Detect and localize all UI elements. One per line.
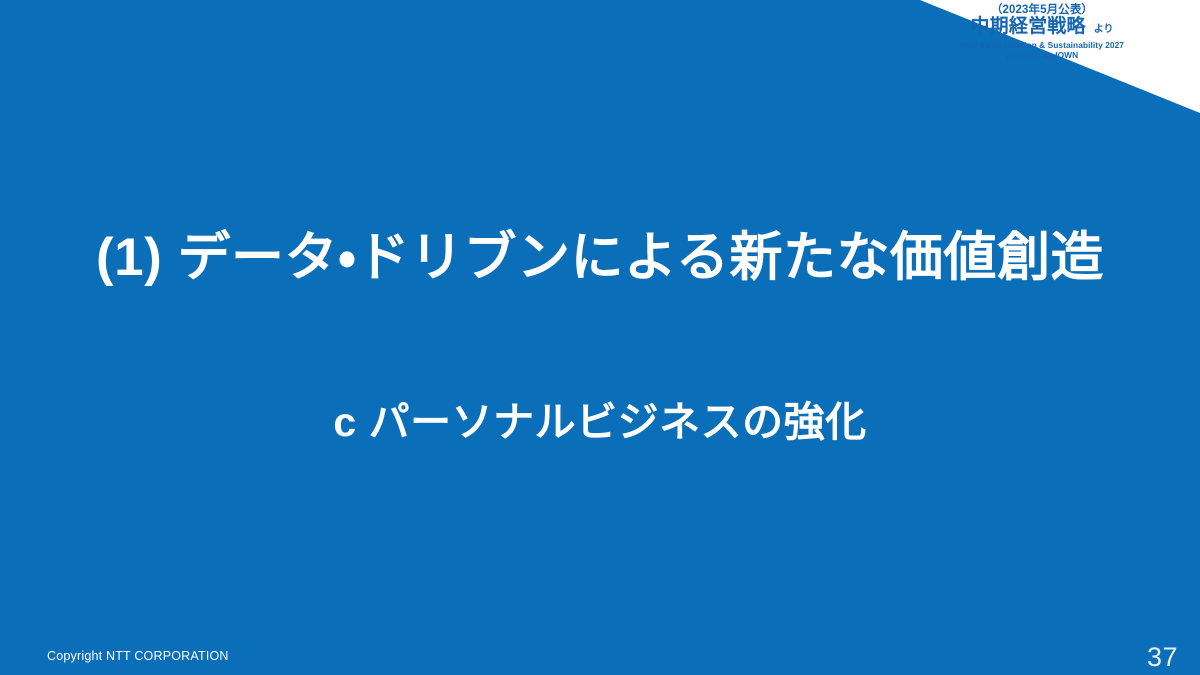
- tagline-line1: New value creation & Sustainability 2027: [892, 41, 1192, 50]
- slide-subsection-title: c パーソナルビジネスの強化: [0, 398, 1200, 447]
- page-number: 37: [1147, 642, 1178, 673]
- copyright-notice: Copyright NTT CORPORATION: [47, 649, 229, 663]
- slide-section-title: (1) データ・ドリブンによる新たな価値創造: [0, 228, 1200, 289]
- published-date-label: （2023年5月公表）: [892, 4, 1192, 16]
- tagline-line2: powered by IOWN: [892, 51, 1192, 60]
- document-reference-header: （2023年5月公表） 中期経営戦略 より New value creation…: [892, 2, 1192, 60]
- source-suffix-label: より: [1094, 25, 1114, 36]
- slide-canvas: （2023年5月公表） 中期経営戦略 より New value creation…: [0, 0, 1200, 675]
- document-title-row: 中期経営戦略 より: [892, 17, 1192, 37]
- document-title-label: 中期経営戦略: [970, 17, 1085, 37]
